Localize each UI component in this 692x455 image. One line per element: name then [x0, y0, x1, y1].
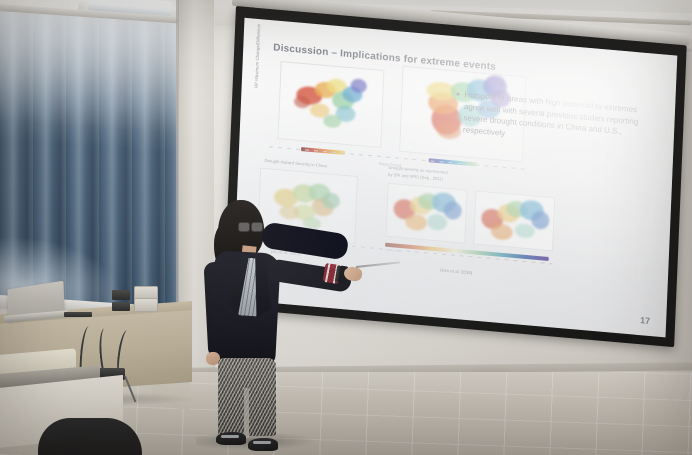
chair[interactable]	[38, 418, 142, 455]
av-equipment-lower[interactable]	[134, 298, 158, 312]
map-china-top	[277, 61, 384, 148]
caption-left: Drought Hazard Severity in China	[264, 158, 326, 169]
y-axis-label: RP Maximum Change/Difference	[253, 21, 261, 91]
av-device-dark[interactable]	[112, 290, 130, 300]
shoe-strap-right	[253, 441, 271, 444]
classroom-presentation-photo: Discussion – Implications for extreme ev…	[0, 0, 692, 455]
shoe-left	[216, 432, 246, 445]
shoe-right	[248, 438, 278, 451]
map-us-spei	[473, 190, 555, 251]
citation-right: (Kim et al. 2019)	[440, 268, 472, 276]
av-device-dark-2[interactable]	[112, 302, 130, 311]
bullet-dot-icon	[456, 92, 459, 95]
eyeglasses-icon	[238, 222, 264, 231]
desk-cable-bundle	[64, 312, 92, 317]
slide-number: 17	[640, 315, 650, 326]
trouser-leg-gap	[244, 388, 249, 438]
shoe-strap-left	[221, 435, 239, 438]
map-us-spi	[385, 183, 467, 244]
